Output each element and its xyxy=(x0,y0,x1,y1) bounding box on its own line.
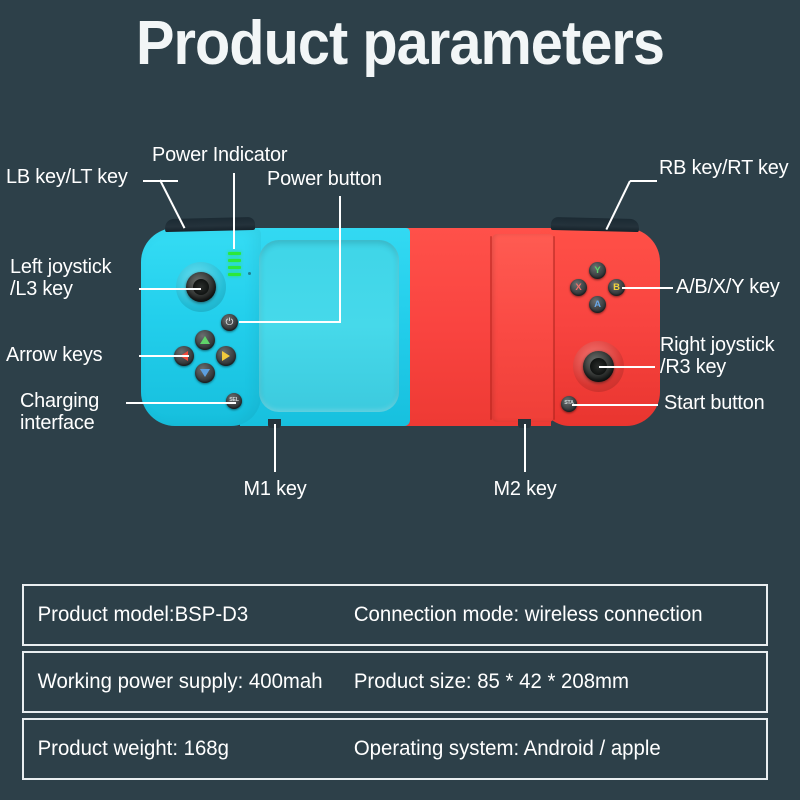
power-button[interactable]: ⏻ xyxy=(221,314,238,331)
leader-line-charging-interface xyxy=(126,402,236,404)
button-a-label: A xyxy=(594,300,601,310)
spec-connection-mode: Connection mode: wireless connection xyxy=(348,586,703,644)
label-charging-interface-line1: Charging xyxy=(20,390,99,412)
leader-line-abxy xyxy=(622,287,673,289)
label-start-button-text: Start button xyxy=(664,391,764,414)
power-icon: ⏻ xyxy=(226,318,234,328)
spec-product-weight: Product weight: 168g xyxy=(24,720,338,778)
label-power-button-text: Power button xyxy=(267,167,382,190)
button-b-label: B xyxy=(613,283,620,293)
microphone-pinhole xyxy=(248,272,251,275)
product-specifications-table: Product model:BSP-D3 Connection mode: wi… xyxy=(22,584,768,785)
label-m2-key-text: M2 key xyxy=(494,477,557,500)
label-left-joystick-line1: Left joystick xyxy=(10,256,111,278)
label-power-button: Power button xyxy=(267,168,382,190)
label-arrow-keys-text: Arrow keys xyxy=(6,343,102,366)
left-grip-body xyxy=(141,228,261,426)
label-start-button: Start button xyxy=(664,392,764,414)
spec-working-power-supply: Working power supply: 400mah xyxy=(24,653,338,711)
button-x-label: X xyxy=(575,283,581,293)
triangle-right-icon xyxy=(222,351,230,361)
label-arrow-keys: Arrow keys xyxy=(6,344,102,366)
shell-seam xyxy=(490,236,492,420)
label-right-joystick: Right joystick /R3 key xyxy=(660,334,774,378)
leader-line-start-button xyxy=(572,404,658,406)
spec-row: Product model:BSP-D3 Connection mode: wi… xyxy=(22,584,768,646)
button-y-label: Y xyxy=(594,266,600,276)
spec-product-model: Product model:BSP-D3 xyxy=(24,586,338,644)
label-power-indicator-text: Power Indicator xyxy=(152,143,287,166)
leader-line-power-button-vertical xyxy=(339,196,341,322)
leader-line-power-button-horizontal xyxy=(239,321,341,323)
label-m1-key: M1 key xyxy=(233,478,316,500)
page-root: Product parameters ⏻ xyxy=(0,0,800,800)
leader-line-left-joystick xyxy=(139,288,201,290)
phone-cradle-recess xyxy=(259,240,399,412)
label-charging-interface: Charging interface xyxy=(20,390,99,434)
dpad-down-button[interactable] xyxy=(195,363,215,383)
power-indicator-led xyxy=(228,259,241,262)
leader-line-power-indicator xyxy=(233,173,235,249)
right-grip-panel xyxy=(492,234,554,422)
rb-rt-shoulder-button[interactable] xyxy=(551,217,639,232)
label-left-joystick: Left joystick /L3 key xyxy=(10,256,111,300)
left-joystick[interactable] xyxy=(186,272,216,302)
label-abxy-key-text: A/B/X/Y key xyxy=(676,275,780,298)
dpad-right-button[interactable] xyxy=(216,346,236,366)
spec-row: Working power supply: 400mah Product siz… xyxy=(22,651,768,713)
label-abxy-key: A/B/X/Y key xyxy=(676,276,780,298)
leader-line-m1 xyxy=(274,424,276,472)
shell-seam xyxy=(553,236,555,420)
button-x[interactable]: X xyxy=(570,279,587,296)
leader-line-rb-rt xyxy=(630,180,657,182)
spec-product-size: Product size: 85 * 42 * 208mm xyxy=(348,653,629,711)
label-lb-lt-key: LB key/LT key xyxy=(6,166,128,188)
triangle-up-icon xyxy=(200,336,210,344)
button-a[interactable]: A xyxy=(589,296,606,313)
label-m1-key-text: M1 key xyxy=(244,477,307,500)
label-charging-interface-line2: interface xyxy=(20,412,99,434)
button-y[interactable]: Y xyxy=(589,262,606,279)
label-m2-key: M2 key xyxy=(483,478,566,500)
power-indicator-led xyxy=(228,273,241,276)
leader-line-m2 xyxy=(524,424,526,472)
right-grip-body xyxy=(540,228,660,426)
label-rb-rt-key: RB key/RT key xyxy=(659,157,788,179)
label-left-joystick-line2: /L3 key xyxy=(10,278,111,300)
leader-line-right-joystick xyxy=(599,366,655,368)
leader-line-arrow-keys xyxy=(139,355,189,357)
dpad-up-button[interactable] xyxy=(195,330,215,350)
triangle-down-icon xyxy=(200,369,210,377)
power-indicator-led xyxy=(228,252,241,255)
label-rb-rt-key-text: RB key/RT key xyxy=(659,156,788,179)
label-right-joystick-line1: Right joystick xyxy=(660,334,774,356)
spec-row: Product weight: 168g Operating system: A… xyxy=(22,718,768,780)
select-button[interactable]: SEL xyxy=(226,393,242,409)
spec-operating-system: Operating system: Android / apple xyxy=(348,720,661,778)
label-right-joystick-line2: /R3 key xyxy=(660,356,774,378)
label-power-indicator: Power Indicator xyxy=(152,144,287,166)
power-indicator-led xyxy=(228,266,241,269)
label-lb-lt-key-text: LB key/LT key xyxy=(6,165,128,188)
